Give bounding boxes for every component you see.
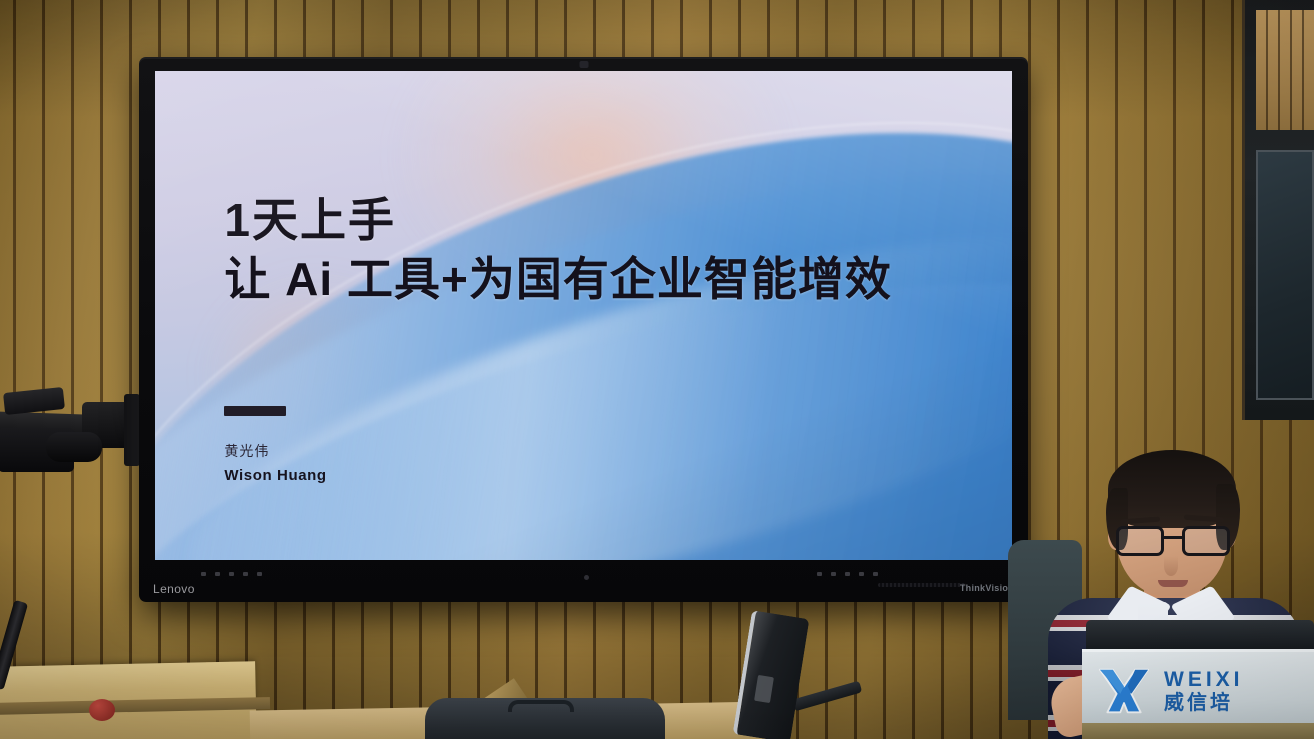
bezel-button[interactable] [845,572,850,576]
bag-handle [508,700,574,712]
presenter-name-en: Wison Huang [224,464,326,488]
door-glass [1256,150,1314,400]
microphone-windscreen-icon [89,699,115,721]
display-screen[interactable]: 1天上手 让 Ai 工具+为国有企业智能增效 黄光伟 Wison Huang [155,71,1012,560]
slide-divider-rule [224,406,286,416]
lens-left [1116,526,1164,556]
lenovo-brand-label: Lenovo [153,582,195,596]
speaker-grille [878,583,966,587]
presentation-display[interactable]: 1天上手 让 Ai 工具+为国有企业智能增效 黄光伟 Wison Huang [139,57,1028,602]
slide-title-line-1: 1天上手 [224,196,961,245]
door-top-slats [1256,10,1314,130]
presenter-name-cn: 黄光伟 [224,440,326,464]
slide-presenter-byline: 黄光伟 Wison Huang [224,440,326,488]
bezel-button[interactable] [831,572,836,576]
rig-clip [3,387,65,415]
mouth [1158,580,1188,587]
bezel-button-row-right[interactable] [817,572,878,576]
bezel-button[interactable] [215,572,220,576]
bezel-button-row-left[interactable] [201,572,262,576]
laptop-lid[interactable] [1086,620,1314,652]
weixin-text-block: WEIXI 威信培 [1164,669,1244,714]
webcam-dot-icon [579,61,588,68]
bezel-button[interactable] [257,572,262,576]
weixin-logo-row: WEIXI 威信培 [1096,666,1244,716]
bezel-button[interactable] [201,572,206,576]
bezel-button[interactable] [859,572,864,576]
lens-right [1182,526,1230,556]
banner-desk-edge [1082,723,1314,739]
bezel-button[interactable] [873,572,878,576]
camera-lens-icon [46,432,102,462]
weixin-banner: WEIXI 威信培 [1082,649,1314,739]
nose [1164,556,1178,576]
camera-rig [0,388,160,496]
weixin-logo-icon [1096,666,1152,716]
room-scene: 1天上手 让 Ai 工具+为国有企业智能增效 黄光伟 Wison Huang [0,0,1314,739]
slide-title-line-2: 让 Ai 工具+为国有企业智能增效 [224,250,961,309]
weixin-text-en: WEIXI [1164,669,1244,690]
weixin-text-cn: 威信培 [1164,692,1244,714]
eyeglasses-icon [1116,526,1230,556]
slide-title-block: 1天上手 让 Ai 工具+为国有企业智能增效 [224,196,961,310]
rig-wall-mount [124,394,140,466]
bezel-button[interactable] [229,572,234,576]
glasses-bridge [1164,536,1182,539]
bezel-button[interactable] [817,572,822,576]
presentation-slide: 1天上手 让 Ai 工具+为国有企业智能增效 黄光伟 Wison Huang [155,71,1012,560]
bezel-button[interactable] [243,572,248,576]
thinkvision-brand-label: ThinkVision [960,583,1014,593]
ir-receiver-icon [584,575,589,580]
